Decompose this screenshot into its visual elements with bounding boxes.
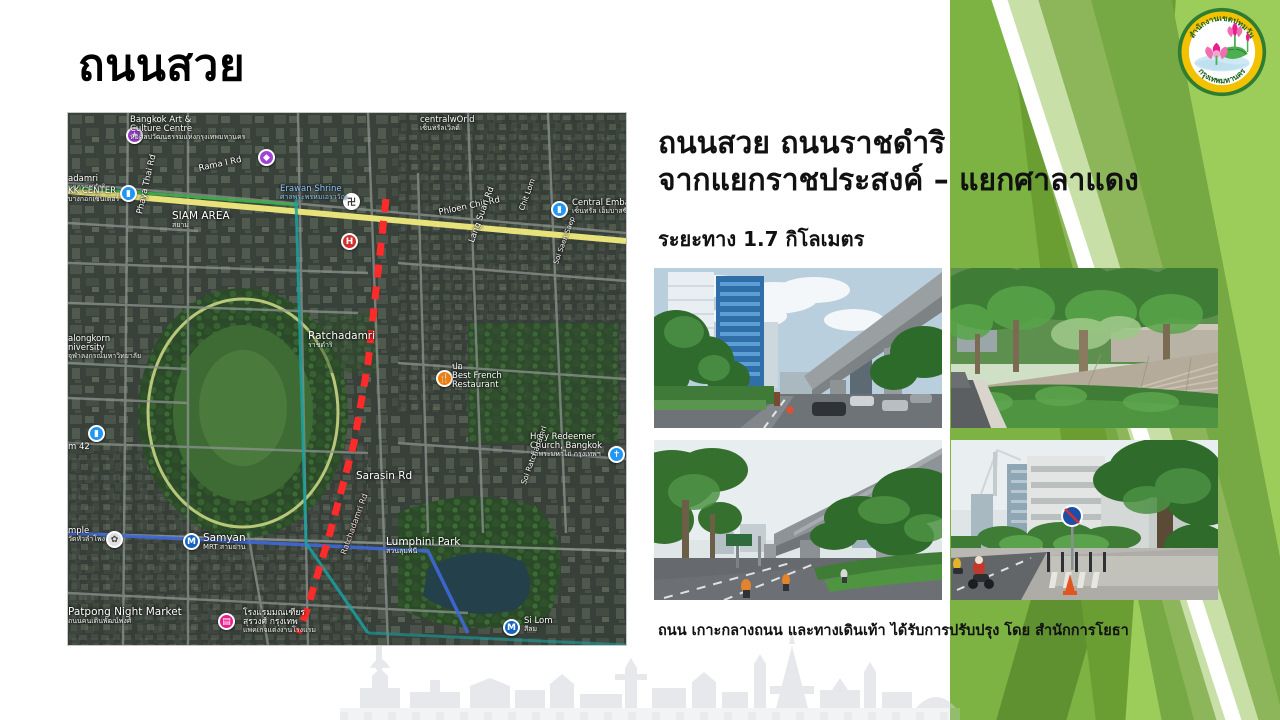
photo-landscaped-sidewalk[interactable] bbox=[951, 268, 1218, 428]
poi-store-bkk-center[interactable]: ▮ bbox=[120, 185, 137, 202]
poi-art-centre[interactable]: ★ bbox=[126, 127, 143, 144]
district-office-seal-logo: สำนักงานเขตปทุมวัน กรุงเทพมหานคร bbox=[1176, 6, 1268, 98]
poi-store-rama4[interactable]: ▮ bbox=[88, 425, 105, 442]
distance-label: ระยะทาง 1.7 กิโลเมตร bbox=[658, 223, 864, 255]
poi-central-embassy[interactable]: ▮ bbox=[551, 201, 568, 218]
photo-road-under-bts-wide[interactable] bbox=[654, 440, 942, 600]
slide-canvas: สำนักงานเขตปทุมวัน กรุงเทพมหานคร ถนนสวย bbox=[0, 0, 1280, 720]
poi-temple[interactable]: ✿ bbox=[106, 531, 123, 548]
poi-erawan-shrine[interactable]: 卍 bbox=[343, 193, 360, 210]
poi-shopping[interactable]: ◆ bbox=[258, 149, 275, 166]
poi-restaurant[interactable]: 🍴 bbox=[436, 370, 453, 387]
headline-line-1: ถนนสวย ถนนราชดำริ bbox=[658, 126, 1258, 163]
headline-block: ถนนสวย ถนนราชดำริ จากแยกราชประสงค์ – แยก… bbox=[658, 126, 1258, 199]
photo-ratchadamri-skytrain-viaduct[interactable] bbox=[654, 268, 942, 428]
poi-church[interactable]: ✝ bbox=[608, 446, 625, 463]
page-title: ถนนสวย bbox=[78, 42, 245, 90]
bottom-caption: ถนน เกาะกลางถนน และทางเดินเท้า ได้รับการ… bbox=[658, 619, 1129, 642]
headline-line-2: จากแยกราชประสงค์ – แยกศาลาแดง bbox=[658, 163, 1258, 200]
poi-mrt-silom[interactable]: M bbox=[503, 619, 520, 636]
poi-hospital[interactable]: H bbox=[341, 233, 358, 250]
poi-mrt-samyan[interactable]: M bbox=[183, 533, 200, 550]
satellite-route-map[interactable]: ★ ◆ ▮ 卍 H ▮ 🍴 ✝ ▮ ✿ M ▤ ▥ M 7 Bangkok Ar… bbox=[68, 113, 626, 645]
poi-hotel[interactable]: ▤ bbox=[218, 613, 235, 630]
photo-street-corner-improved[interactable] bbox=[951, 440, 1218, 600]
